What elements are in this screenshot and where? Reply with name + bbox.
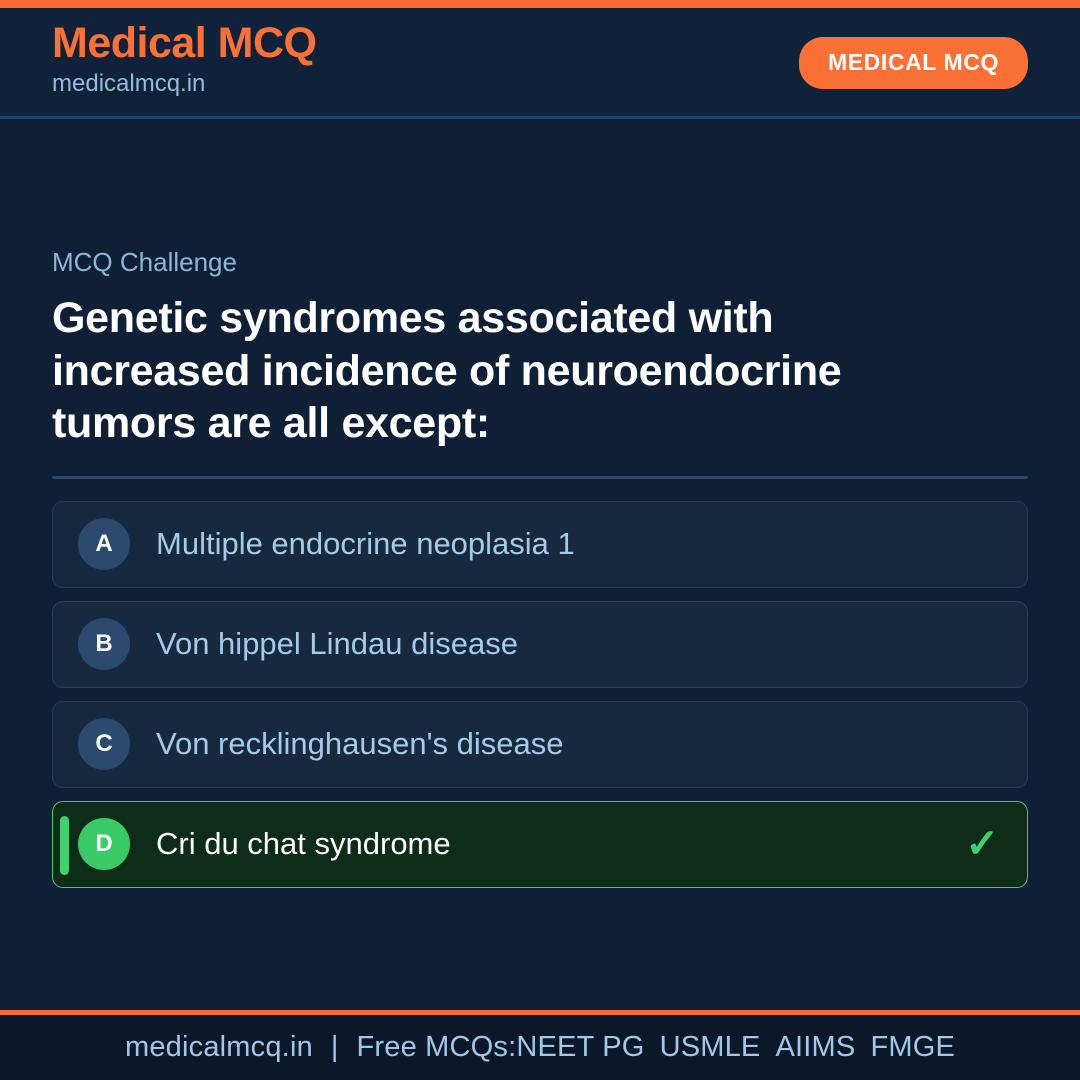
mcq-card: Medical MCQ medicalmcq.in MEDICAL MCQ MC…: [0, 0, 1080, 1080]
option-letter-badge: C: [78, 718, 130, 770]
option-letter-badge: D: [78, 818, 130, 870]
content-area: MCQ Challenge Genetic syndromes associat…: [0, 119, 1080, 1010]
option-d[interactable]: DCri du chat syndrome✓: [52, 801, 1028, 888]
option-label: Von hippel Lindau disease: [156, 627, 518, 661]
brand-badge: MEDICAL MCQ: [799, 37, 1028, 89]
footer-exam-list: NEET PGUSMLEAIIMSFMGE: [516, 1031, 955, 1064]
question-text: Genetic syndromes associated with increa…: [52, 292, 942, 449]
footer-exam-fmge[interactable]: FMGE: [870, 1031, 955, 1064]
option-b[interactable]: BVon hippel Lindau disease✓: [52, 601, 1028, 688]
header: Medical MCQ medicalmcq.in MEDICAL MCQ: [0, 8, 1080, 119]
option-a[interactable]: AMultiple endocrine neoplasia 1✓: [52, 501, 1028, 588]
option-letter-badge: B: [78, 618, 130, 670]
check-icon: ✓: [965, 824, 999, 864]
footer-separator: |: [313, 1031, 357, 1064]
footer-exam-usmle[interactable]: USMLE: [660, 1031, 761, 1064]
option-letter-badge: A: [78, 518, 130, 570]
footer-prefix: Free MCQs:: [356, 1031, 516, 1064]
question-divider: [52, 476, 1028, 479]
options-list: AMultiple endocrine neoplasia 1✓BVon hip…: [52, 501, 1028, 888]
brand: Medical MCQ medicalmcq.in: [52, 21, 317, 101]
footer-site[interactable]: medicalmcq.in: [125, 1031, 313, 1064]
option-label: Cri du chat syndrome: [156, 827, 451, 861]
footer: medicalmcq.in | Free MCQs: NEET PGUSMLEA…: [0, 1015, 1080, 1080]
correct-accent-bar: [60, 816, 69, 875]
brand-title: Medical MCQ: [52, 21, 317, 66]
footer-exam-aiims[interactable]: AIIMS: [775, 1031, 855, 1064]
brand-subtitle: medicalmcq.in: [52, 68, 317, 100]
top-accent-bar: [0, 0, 1080, 8]
eyebrow-label: MCQ Challenge: [52, 247, 1028, 278]
option-c[interactable]: CVon recklinghausen's disease✓: [52, 701, 1028, 788]
footer-exam-neet-pg[interactable]: NEET PG: [516, 1031, 644, 1064]
option-label: Multiple endocrine neoplasia 1: [156, 527, 575, 561]
option-label: Von recklinghausen's disease: [156, 727, 563, 761]
